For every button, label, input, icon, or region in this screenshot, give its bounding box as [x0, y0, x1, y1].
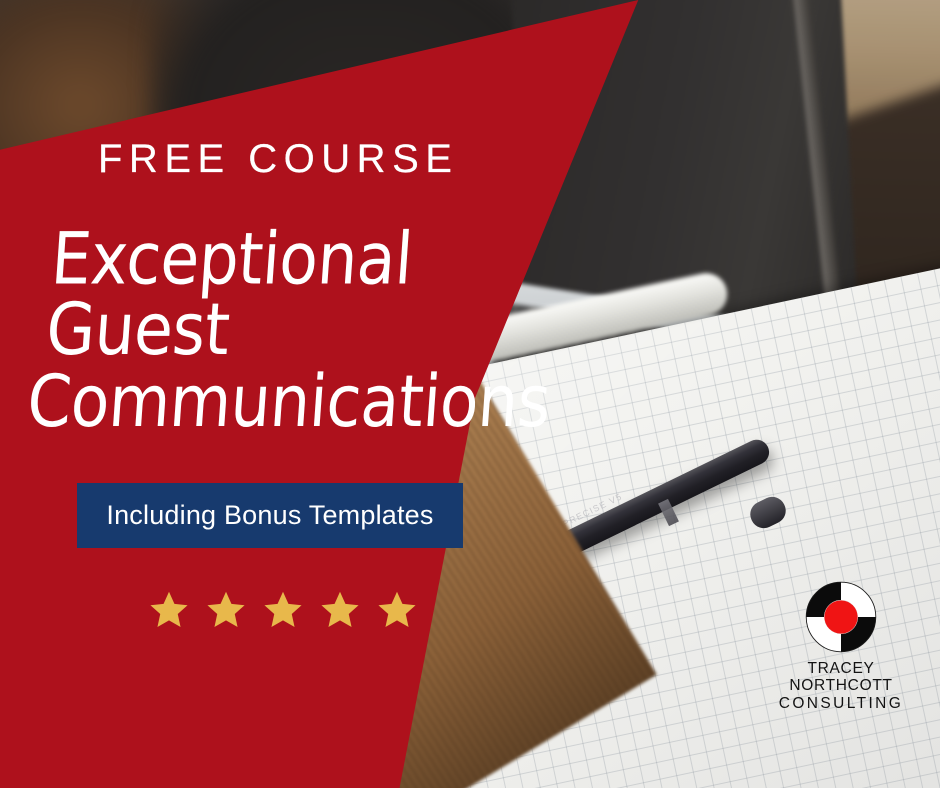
course-title: Exceptional Guest Communications: [25, 224, 540, 437]
logo-wordmark: TRACEY NORTHCOTT CONSULTING: [766, 660, 916, 712]
brand-logo: TRACEY NORTHCOTT CONSULTING: [766, 580, 916, 712]
star-rating: [148, 589, 418, 631]
star-icon: [319, 589, 361, 631]
bonus-templates-label: Including Bonus Templates: [106, 500, 433, 531]
logo-company-name: TRACEY NORTHCOTT: [766, 660, 916, 695]
course-title-line-2: Communications: [25, 366, 530, 437]
logo-company-descriptor: CONSULTING: [766, 695, 916, 712]
promo-graphic-canvas: PRECISE V5 FREE COURSE Exceptional Guest…: [0, 0, 940, 788]
star-icon: [376, 589, 418, 631]
bonus-templates-banner[interactable]: Including Bonus Templates: [77, 483, 463, 548]
course-title-line-1: Exceptional Guest: [30, 224, 540, 366]
star-icon: [262, 589, 304, 631]
star-icon: [148, 589, 190, 631]
target-quadrant-circle-icon: [804, 580, 878, 654]
eyebrow-label: FREE COURSE: [98, 137, 458, 182]
star-icon: [205, 589, 247, 631]
